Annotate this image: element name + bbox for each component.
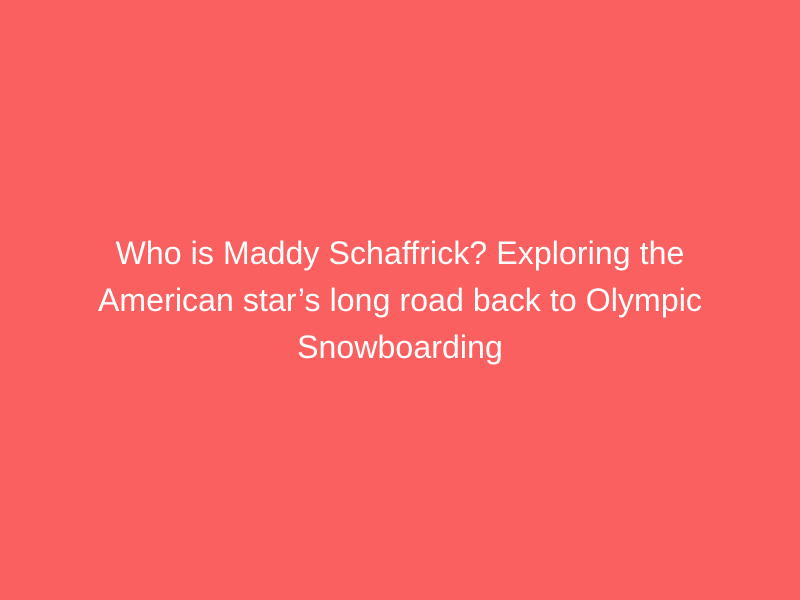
page-title: Who is Maddy Schaffrick? Exploring the A… xyxy=(90,230,710,371)
article-headline-card: Who is Maddy Schaffrick? Exploring the A… xyxy=(0,0,800,600)
headline-container: Who is Maddy Schaffrick? Exploring the A… xyxy=(50,230,750,371)
